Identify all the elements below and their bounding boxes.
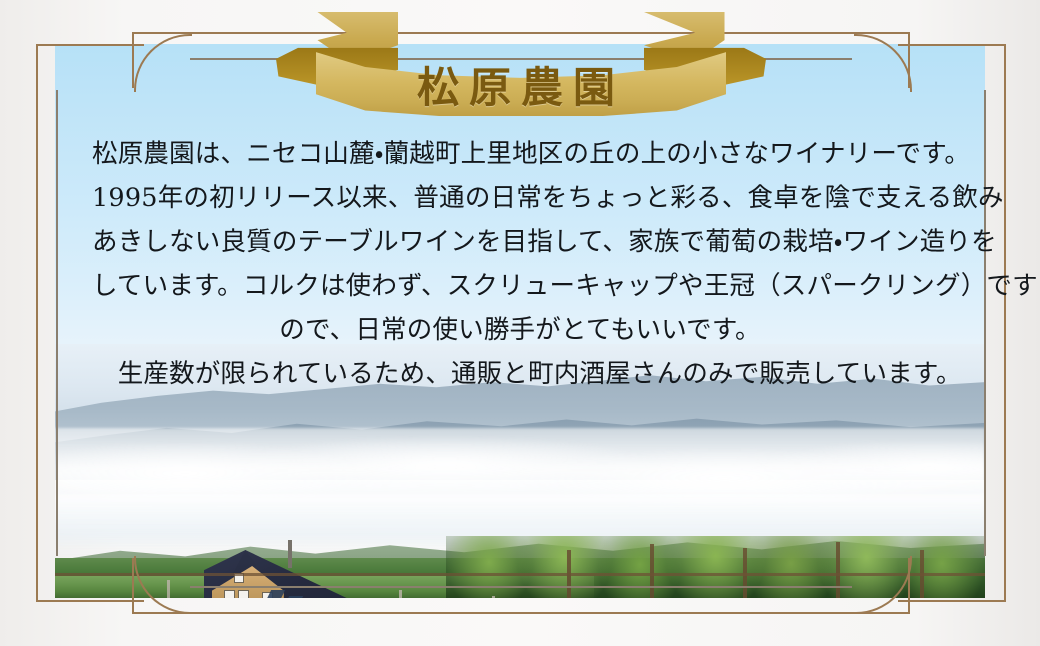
window: [238, 590, 249, 598]
description-line: 生産数が限られているため、通販と町内酒屋さんのみで販売しています。: [92, 352, 948, 396]
banner-title: 松原農園: [276, 54, 766, 115]
vine-post: [836, 542, 840, 598]
frame-top-outer-right-step: [898, 44, 1006, 46]
farmhouse: [204, 540, 364, 598]
frame-corner-arc-bottomleft: [134, 556, 192, 614]
photo-baseline-rule: [55, 573, 985, 576]
frame-bottom-outer-right-step: [898, 600, 1006, 602]
frame-left-outer: [36, 44, 38, 602]
frame-bottom-inner: [190, 586, 852, 588]
frame-left-outer-step: [132, 32, 134, 88]
frame-top-outer-left-step: [36, 44, 144, 46]
frame-corner-arc-bottomright: [854, 556, 912, 614]
frame-right-inner: [984, 90, 986, 556]
description-line: 1995年の初リリース以来、普通の日常をちょっと彩る、食卓を陰で支える飲み: [92, 176, 948, 220]
frame-bottom-outer-left-step: [36, 600, 144, 602]
page-background: 松原農園 松原農園は、ニセコ山麓・蘭越町上里地区の丘の上の小さなワイナリーです。…: [0, 0, 1040, 646]
description-line: 松原農園は、ニセコ山麓・蘭越町上里地区の丘の上の小さなワイナリーです。: [92, 132, 948, 176]
ribbon-banner: 松原農園: [276, 4, 766, 120]
frame-corner-arc-topleft: [134, 34, 192, 92]
description-line: あきしない良質のテーブルワインを目指して、家族で葡萄の栽培・ワイン造りを: [92, 220, 948, 264]
frame-left-inner: [56, 90, 58, 556]
frame-right-outer: [1004, 44, 1006, 602]
field-post: [399, 590, 402, 598]
chimney: [288, 540, 292, 568]
frame-corner-arc-topright: [854, 34, 912, 92]
description-line: ので、日常の使い勝手がとてもいいです。: [92, 308, 948, 352]
window: [224, 590, 235, 598]
description-text: 松原農園は、ニセコ山麓・蘭越町上里地区の丘の上の小さなワイナリーです。 1995…: [92, 132, 948, 396]
frame-bottom-outer: [132, 612, 910, 614]
description-line: しています。コルクは使わず、スクリューキャップや王冠（スパークリング）です: [92, 264, 948, 308]
vine-post: [650, 544, 654, 598]
field-post: [492, 596, 495, 598]
